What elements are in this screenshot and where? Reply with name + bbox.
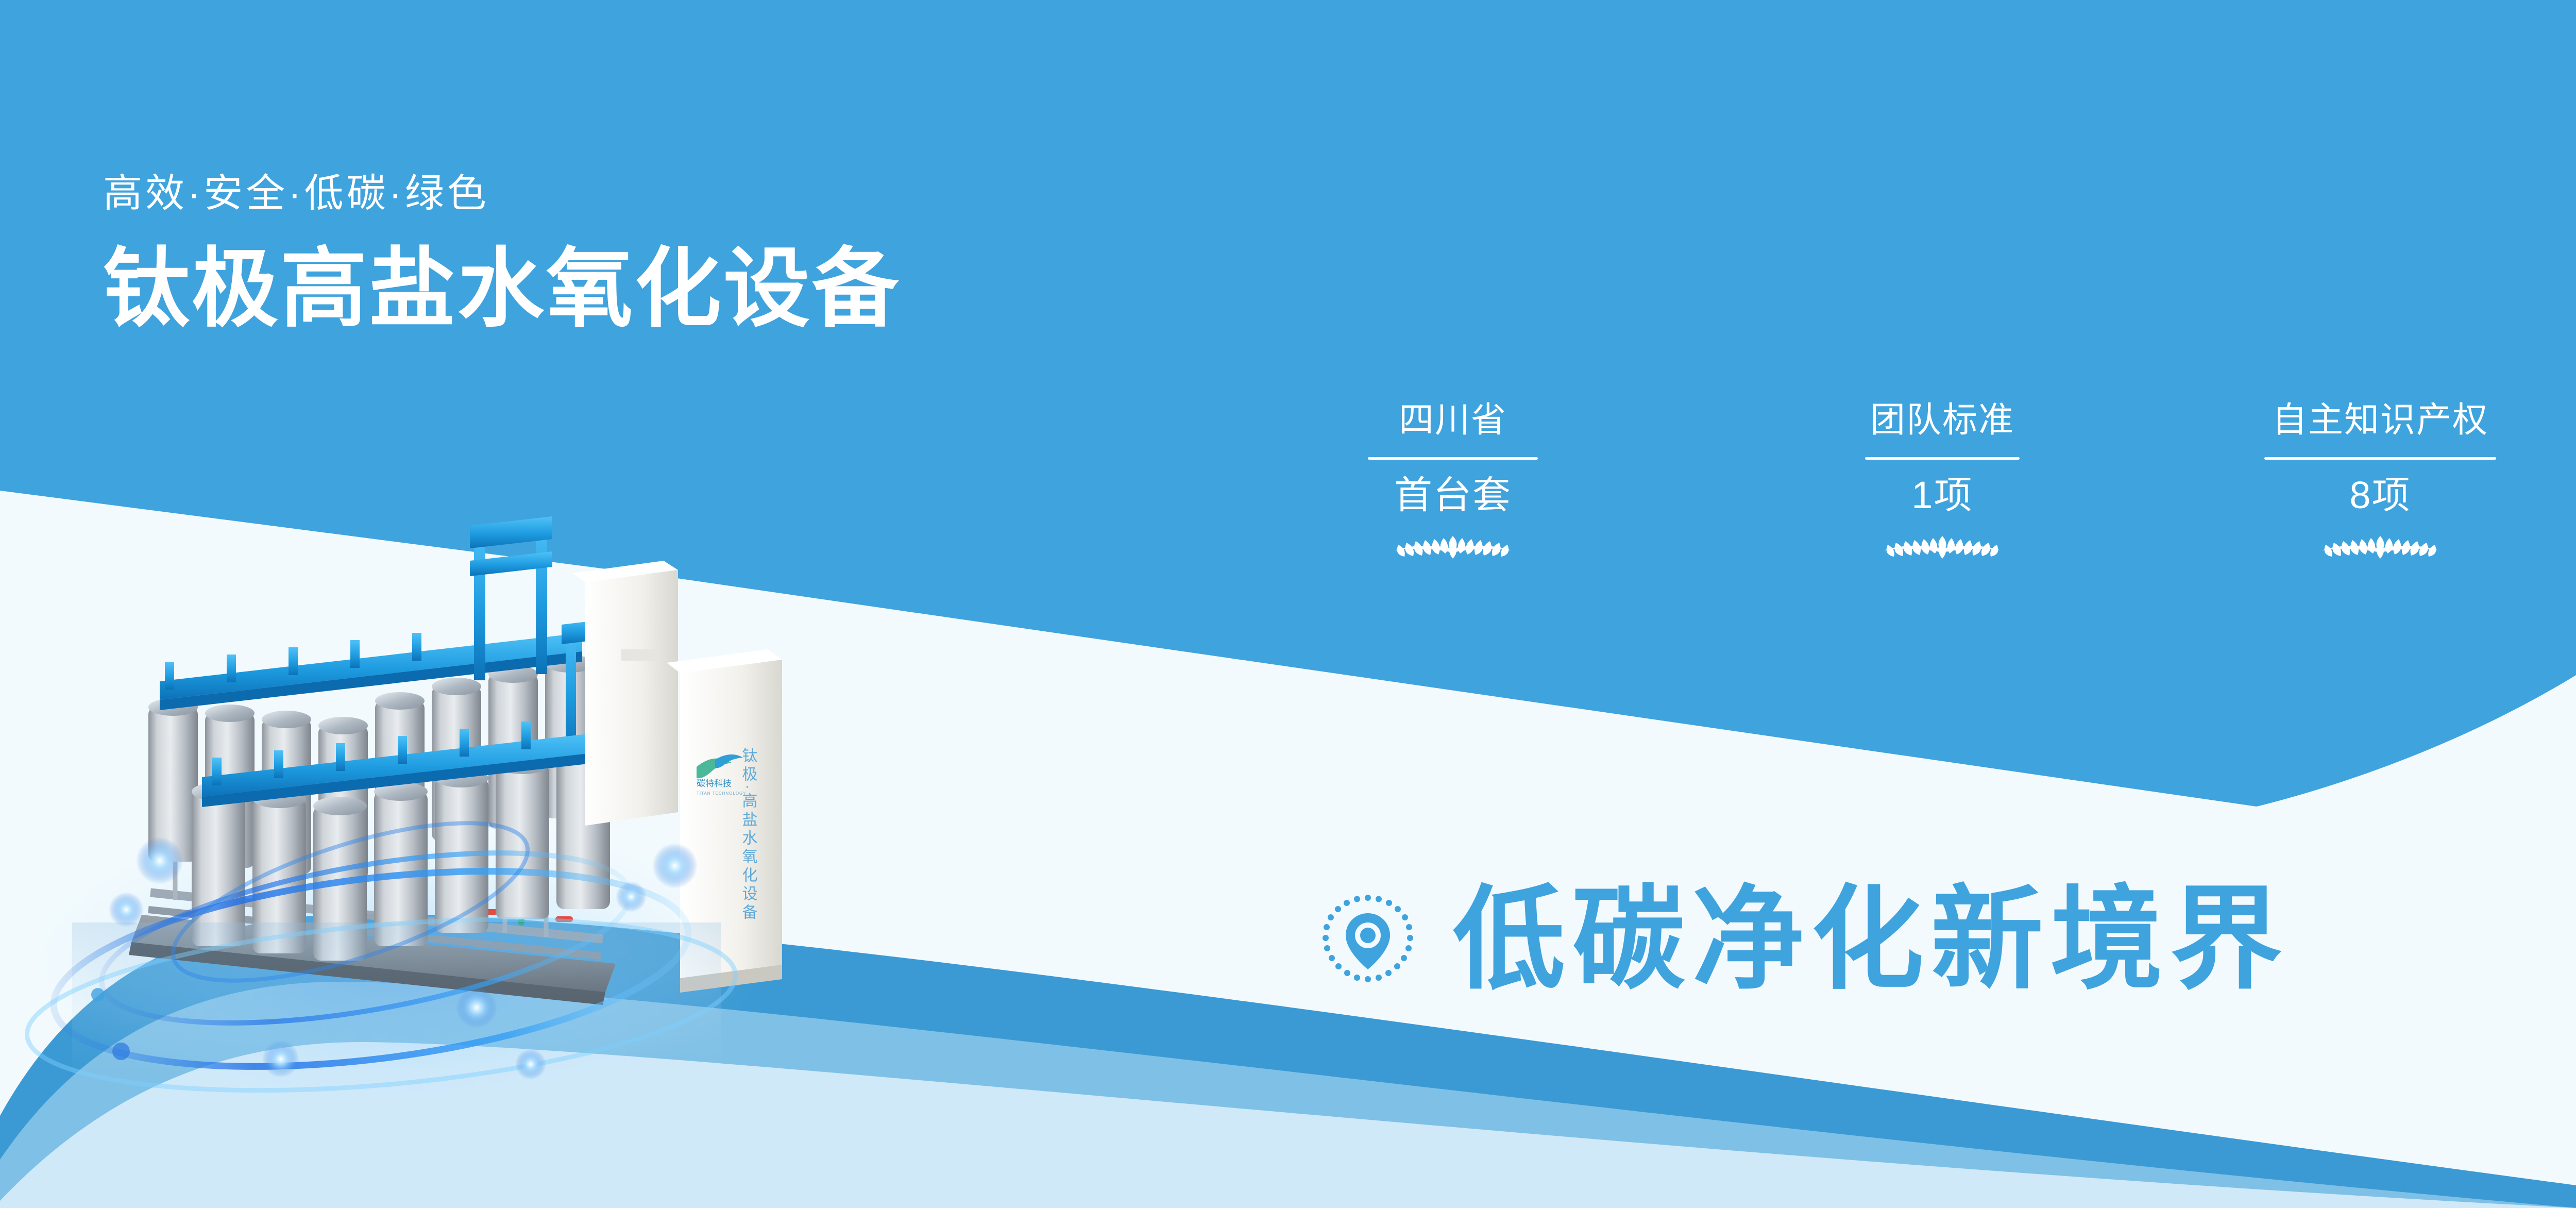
cabinet-vertical-label: 钛极·高盐水氧化设备 — [740, 747, 758, 922]
product-image: 碳特科技 TITAN TECHNOLOGY 钛极·高盐水氧化设备 — [10, 443, 855, 1113]
stat-divider — [1368, 457, 1538, 460]
stat-label: 四川省 — [1319, 402, 1587, 439]
product-control-cabinet-rear — [573, 561, 678, 826]
stat-item: 团队标准 1项 — [1808, 402, 2076, 565]
tagline-text: 低碳净化新境界 — [1453, 884, 2290, 996]
svg-text:TITAN TECHNOLOGY: TITAN TECHNOLOGY — [697, 791, 747, 796]
location-pin-icon — [1319, 891, 1417, 989]
tagline-block: 低碳净化新境界 — [1319, 884, 2290, 996]
stat-label: 团队标准 — [1808, 402, 2076, 439]
stat-value: 8项 — [2226, 475, 2535, 515]
stat-value: 首台套 — [1319, 475, 1587, 515]
stat-item: 自主知识产权 8项 — [2226, 402, 2535, 565]
banner-root: 碳特科技 TITAN TECHNOLOGY 钛极·高盐水氧化设备 — [0, 0, 2576, 1208]
stat-value: 1项 — [1808, 475, 2076, 515]
cabinet-logo-text: 碳特科技 — [697, 779, 732, 788]
laurel-ornament-icon — [1319, 529, 1587, 565]
stats-group: 四川省 首台套 — [1319, 402, 2504, 660]
stat-label: 自主知识产权 — [2226, 402, 2535, 439]
stat-divider — [2264, 457, 2496, 460]
headline-block: 高效·安全·低碳·绿色 钛极高盐水氧化设备 — [103, 174, 901, 332]
stat-item: 四川省 首台套 — [1319, 402, 1587, 565]
stat-divider — [1865, 457, 2020, 460]
page-title: 钛极高盐水氧化设备 — [103, 245, 901, 332]
eyebrow-text: 高效·安全·低碳·绿色 — [103, 174, 901, 213]
laurel-ornament-icon — [1808, 529, 2076, 565]
laurel-ornament-icon — [2226, 529, 2535, 565]
